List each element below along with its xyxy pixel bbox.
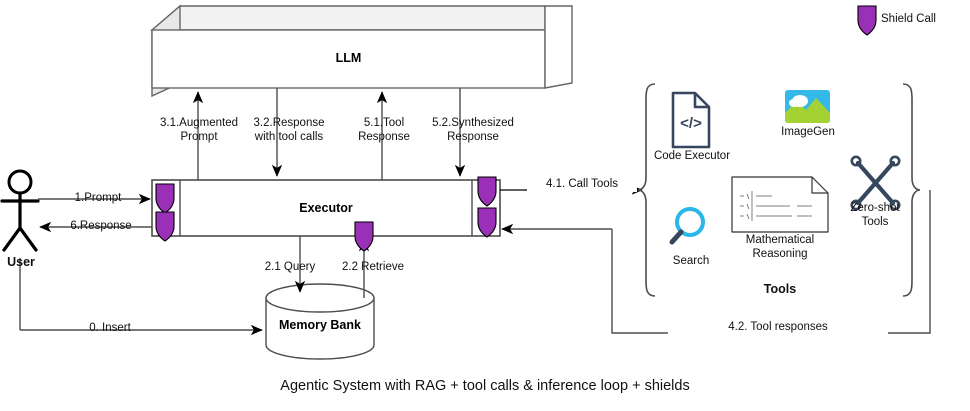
- tool-label-imagegen: ImageGen: [760, 126, 856, 140]
- edge-label-call-tools: 4.1. Call Tools: [527, 178, 637, 192]
- edge-label-query: 2.1 Query: [252, 261, 328, 275]
- edge-label-synthesized-response: 5.2.Synthesized Response: [414, 117, 532, 144]
- legend-shield-label: Shield Call: [881, 13, 970, 27]
- tool-label-zero-shot-tools: Zero-shot Tools: [833, 202, 917, 229]
- edge-label-tool-responses: 4.2. Tool responses: [668, 321, 888, 335]
- edge-label-response: 6.Response: [48, 220, 154, 234]
- label-layer: LLM Executor Memory Bank User Tools 1.Pr…: [0, 0, 970, 411]
- edge-label-prompt: 1.Prompt: [48, 192, 148, 206]
- edge-label-retrieve: 2.2 Retrieve: [330, 261, 416, 275]
- tools-group-label: Tools: [730, 283, 830, 297]
- memory-bank-label: Memory Bank: [266, 318, 374, 332]
- edge-label-insert: 0. Insert: [60, 322, 160, 336]
- tool-label-search: Search: [655, 255, 727, 269]
- tool-label-code-executor: Code Executor: [637, 150, 747, 164]
- tool-label-mathematical-reasoning: Mathematical Reasoning: [728, 234, 832, 261]
- llm-label: LLM: [152, 51, 545, 65]
- diagram-caption: Agentic System with RAG + tool calls & i…: [0, 378, 970, 394]
- executor-label: Executor: [180, 201, 472, 215]
- user-label: User: [0, 256, 42, 270]
- edge-label-response-tool-calls: 3.2.Response with tool calls: [230, 117, 348, 144]
